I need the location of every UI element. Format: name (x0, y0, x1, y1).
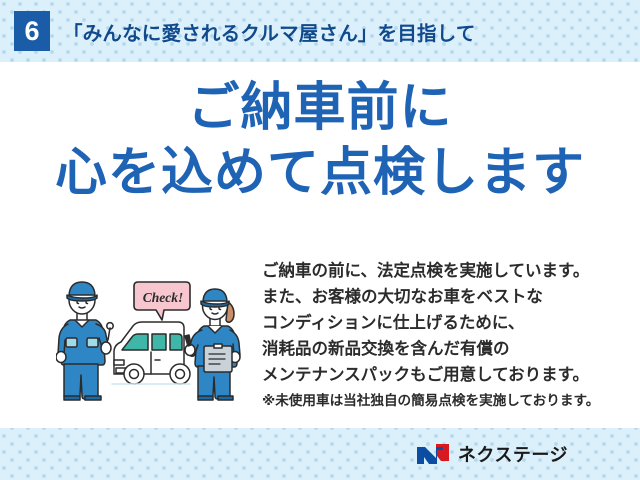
body-copy-line-3: コンディションに仕上げるために、 (262, 310, 632, 336)
van-illustration (112, 322, 190, 384)
mechanic-right-figure (185, 289, 240, 400)
body-copy: ご納車の前に、法定点検を実施しています。 また、お客様の大切なお車をベストな コ… (262, 258, 632, 412)
section-footer: ネクステージ (0, 428, 640, 480)
body-copy-line-2: また、お客様の大切なお車をベストな (262, 284, 632, 310)
content-panel: ご納車前に 心を込めて点検します (0, 62, 640, 428)
brand-name: ネクステージ (458, 441, 568, 467)
mechanic-left-figure (56, 282, 113, 400)
headline-line-2: 心を込めて点検します (0, 145, 640, 201)
headline-line-1: ご納車前に (0, 80, 640, 136)
body-copy-line-4: 消耗品の新品交換を含んだ有償の (262, 336, 632, 362)
brand-logo: ネクステージ (416, 441, 568, 467)
check-bubble-label: Check! (143, 290, 184, 305)
nextage-n-mark-icon (416, 443, 450, 465)
mechanics-illustration: Check! (56, 262, 256, 402)
body-copy-line-5: メンテナンスパックもご用意しております。 (262, 362, 632, 388)
section-number-badge: 6 (14, 11, 50, 51)
body-copy-note: ※未使用車は当社独自の簡易点検を実施しております。 (262, 391, 632, 411)
section-header: 6 「みんなに愛されるクルマ屋さん」を目指して (0, 0, 640, 62)
page-title: 「みんなに愛されるクルマ屋さん」を目指して (63, 17, 476, 46)
headline: ご納車前に 心を込めて点検します (0, 80, 640, 201)
body-copy-line-1: ご納車の前に、法定点検を実施しています。 (262, 258, 632, 284)
page-root: 6 「みんなに愛されるクルマ屋さん」を目指して ご納車前に 心を込めて点検します (0, 0, 640, 480)
